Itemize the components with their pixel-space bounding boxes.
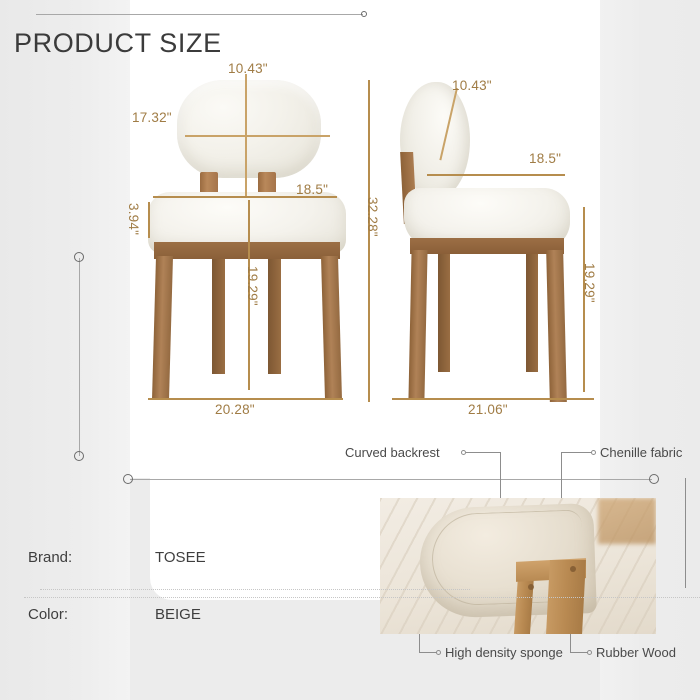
dim-side-seat-height: 19.29" bbox=[582, 263, 597, 303]
deco-line-left bbox=[79, 258, 80, 456]
callout-high-density-sponge-lead-h bbox=[419, 652, 437, 653]
side-inner-leg-rear bbox=[526, 250, 538, 372]
photo-wood-peg-upper bbox=[570, 566, 576, 572]
dimline-side-seat-depth bbox=[427, 174, 565, 176]
page-title: PRODUCT SIZE bbox=[14, 28, 222, 59]
dim-side-backrest-depth: 10.43" bbox=[452, 78, 492, 93]
side-inner-leg-front bbox=[438, 250, 450, 372]
dim-front-backrest-width: 10.43" bbox=[228, 61, 268, 76]
dim-side-overall-depth: 21.06" bbox=[468, 402, 508, 417]
callout-rubber-wood-dot bbox=[587, 650, 592, 655]
dim-front-overall-width: 20.28" bbox=[215, 402, 255, 417]
callout-curved-backrest-label: Curved backrest bbox=[345, 445, 440, 460]
deco-dot-left-bottom bbox=[74, 451, 84, 461]
product-detail-photo bbox=[380, 498, 656, 634]
dim-front-seat-width: 18.5" bbox=[296, 182, 328, 197]
side-leg-front bbox=[408, 250, 427, 400]
front-backrest-cushion bbox=[177, 80, 321, 178]
spec-value-color: BEIGE bbox=[155, 606, 201, 623]
spec-divider-upper bbox=[40, 589, 470, 590]
left-gradient-overlay bbox=[0, 0, 130, 700]
callout-high-density-sponge-dot bbox=[436, 650, 441, 655]
front-rear-leg-left bbox=[212, 256, 225, 374]
callout-curved-backrest-lead-h bbox=[466, 452, 501, 453]
dimline-side-overall-height bbox=[368, 80, 370, 402]
deco-dot-bottom-right bbox=[649, 474, 659, 484]
side-leg-rear bbox=[546, 250, 567, 402]
front-seat-apron bbox=[154, 242, 340, 259]
dim-side-seat-depth: 18.5" bbox=[529, 151, 561, 166]
chair-side-illustration bbox=[398, 80, 583, 400]
callout-high-density-sponge-label: High density sponge bbox=[445, 645, 563, 660]
deco-dot-top-right bbox=[361, 11, 367, 17]
dim-side-overall-height: 32.28" bbox=[365, 197, 380, 237]
deco-dot-left-top bbox=[74, 252, 84, 262]
deco-line-top bbox=[36, 14, 363, 15]
deco-line-bottom bbox=[130, 479, 652, 480]
dimline-front-backrest-height bbox=[185, 135, 330, 137]
side-seat-apron bbox=[410, 238, 564, 254]
callout-rubber-wood-label: Rubber Wood bbox=[596, 645, 676, 660]
dimline-front-seat-thickness bbox=[148, 202, 150, 238]
spec-label-brand: Brand: bbox=[28, 549, 72, 566]
callout-rubber-wood-lead-h bbox=[570, 652, 588, 653]
spec-label-color: Color: bbox=[28, 606, 68, 623]
dimline-front-overall-width bbox=[148, 398, 343, 400]
front-leg-left bbox=[152, 256, 173, 400]
spec-value-brand: TOSEE bbox=[155, 549, 206, 566]
spec-divider-lower bbox=[24, 597, 700, 598]
dim-front-backrest-height: 17.32" bbox=[132, 110, 172, 125]
photo-wood-floor-edge bbox=[598, 498, 656, 544]
callout-chenille-fabric-label: Chenille fabric bbox=[600, 445, 682, 460]
photo-guide-line bbox=[685, 478, 686, 588]
product-size-infographic: PRODUCT SIZE 10.43" 17.32" 18.5" 3.94" 1… bbox=[0, 0, 700, 700]
dimline-side-overall-depth bbox=[392, 398, 594, 400]
dim-front-seat-thickness: 3.94" bbox=[126, 203, 141, 235]
front-leg-right bbox=[321, 256, 342, 400]
deco-dot-bottom-left bbox=[123, 474, 133, 484]
callout-chenille-fabric-lead-h bbox=[561, 452, 592, 453]
dim-front-seat-height: 19.29" bbox=[245, 266, 260, 306]
photo-wood-peg-lower bbox=[528, 584, 534, 590]
front-rear-leg-right bbox=[268, 256, 281, 374]
